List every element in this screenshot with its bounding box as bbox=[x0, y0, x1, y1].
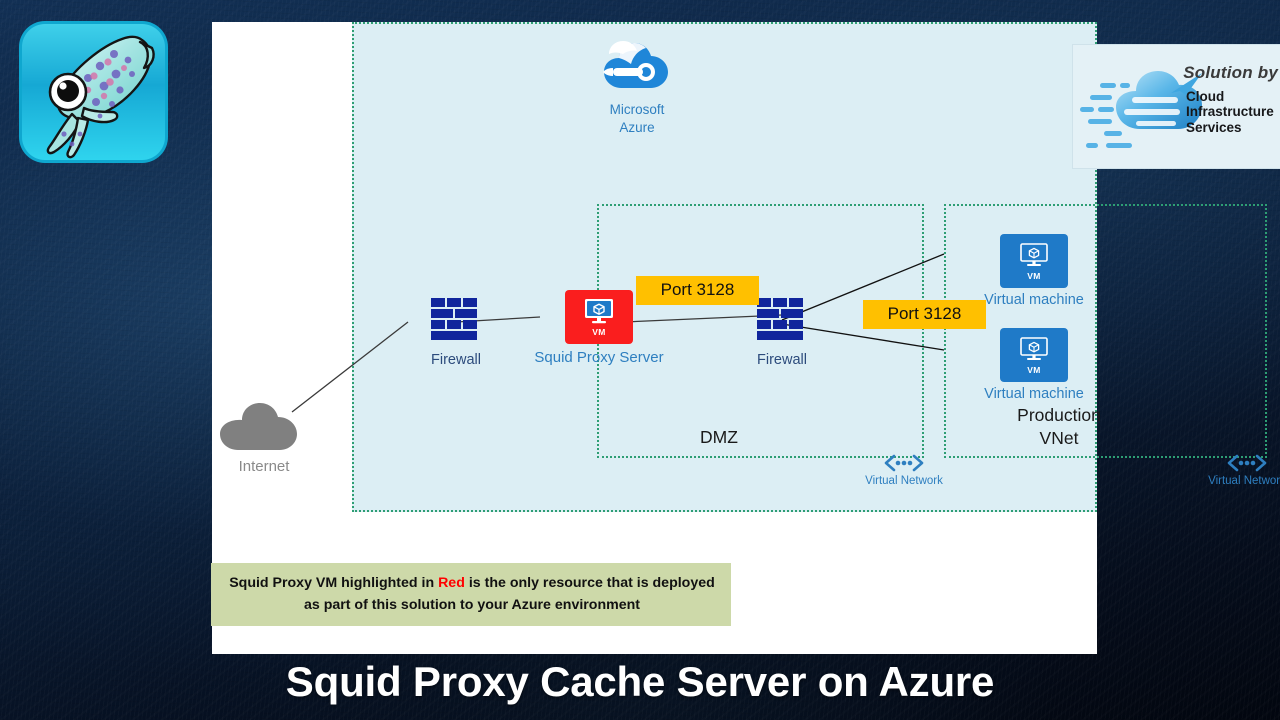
virtual-network-endpoint-label: Virtual Network bbox=[849, 475, 959, 487]
squid-proxy-vm-tile: VM bbox=[565, 290, 633, 344]
firewall-left: Firewall bbox=[408, 298, 504, 368]
vm-tile-caption: VM bbox=[1027, 365, 1041, 375]
internet-node: Internet bbox=[209, 400, 319, 475]
solution-by-badge: Solution by Cloud Infrastructure Service… bbox=[1072, 44, 1280, 169]
cis-company-name: Cloud Infrastructure Services bbox=[1186, 89, 1274, 136]
virtual-machine-icon bbox=[1017, 336, 1051, 364]
azure-label-line1: Microsoft bbox=[610, 102, 665, 117]
virtual-network-endpoint-label: Virtual Network bbox=[1192, 475, 1280, 487]
squid-logo bbox=[16, 18, 171, 166]
cis-line1: Cloud bbox=[1186, 89, 1224, 104]
virtual-network-icon bbox=[1192, 452, 1280, 474]
caption-text-before: Squid Proxy VM highlighted in bbox=[229, 575, 438, 591]
squid-icon bbox=[16, 18, 171, 166]
production-zone-line2: VNet bbox=[1040, 428, 1079, 448]
slide-content-card: Microsoft Azure bbox=[212, 22, 1097, 654]
firewall-brick-icon bbox=[431, 298, 481, 344]
virtual-machine-tile: VM bbox=[1000, 234, 1068, 288]
azure-label-line2: Azure bbox=[619, 120, 654, 135]
virtual-machine-node-2: VM Virtual machine bbox=[954, 328, 1114, 402]
virtual-machine-icon bbox=[1017, 242, 1051, 270]
port-badge-squid: Port 3128 bbox=[636, 276, 759, 305]
azure-cloud-icon bbox=[599, 38, 675, 94]
microsoft-azure-logo: Microsoft Azure bbox=[582, 38, 692, 137]
port-badge-production: Port 3128 bbox=[863, 300, 986, 329]
virtual-machine-tile: VM bbox=[1000, 328, 1068, 382]
azure-logo-label: Microsoft Azure bbox=[582, 101, 692, 137]
cis-line2: Infrastructure bbox=[1186, 104, 1274, 119]
virtual-network-endpoint-production: Virtual Network bbox=[1192, 452, 1280, 487]
cis-line3: Services bbox=[1186, 120, 1242, 135]
internet-label: Internet bbox=[209, 458, 319, 475]
vm-tile-caption: VM bbox=[1027, 271, 1041, 281]
firewall-label: Firewall bbox=[408, 352, 504, 368]
virtual-network-endpoint-dmz: Virtual Network bbox=[849, 452, 959, 487]
firewall-right: Firewall bbox=[734, 298, 830, 368]
caption-note: Squid Proxy VM highlighted in Red is the… bbox=[211, 563, 731, 626]
virtual-machine-icon bbox=[582, 298, 616, 326]
production-zone-line1: Production bbox=[1017, 405, 1101, 425]
squid-proxy-server-label: Squid Proxy Server bbox=[504, 349, 694, 366]
production-vnet-zone-label: Production VNet bbox=[974, 404, 1144, 450]
page-title: Squid Proxy Cache Server on Azure bbox=[0, 658, 1280, 706]
virtual-network-icon bbox=[849, 452, 959, 474]
cloud-icon bbox=[216, 400, 312, 452]
firewall-label: Firewall bbox=[734, 352, 830, 368]
firewall-brick-icon bbox=[757, 298, 807, 344]
dmz-zone-label: DMZ bbox=[654, 426, 784, 449]
caption-highlight: Red bbox=[438, 575, 465, 591]
virtual-machine-label: Virtual machine bbox=[954, 386, 1114, 402]
virtual-machine-node-1: VM Virtual machine bbox=[954, 234, 1114, 308]
solution-by-tagline: Solution by bbox=[1183, 63, 1278, 83]
vm-tile-caption: VM bbox=[592, 327, 606, 337]
